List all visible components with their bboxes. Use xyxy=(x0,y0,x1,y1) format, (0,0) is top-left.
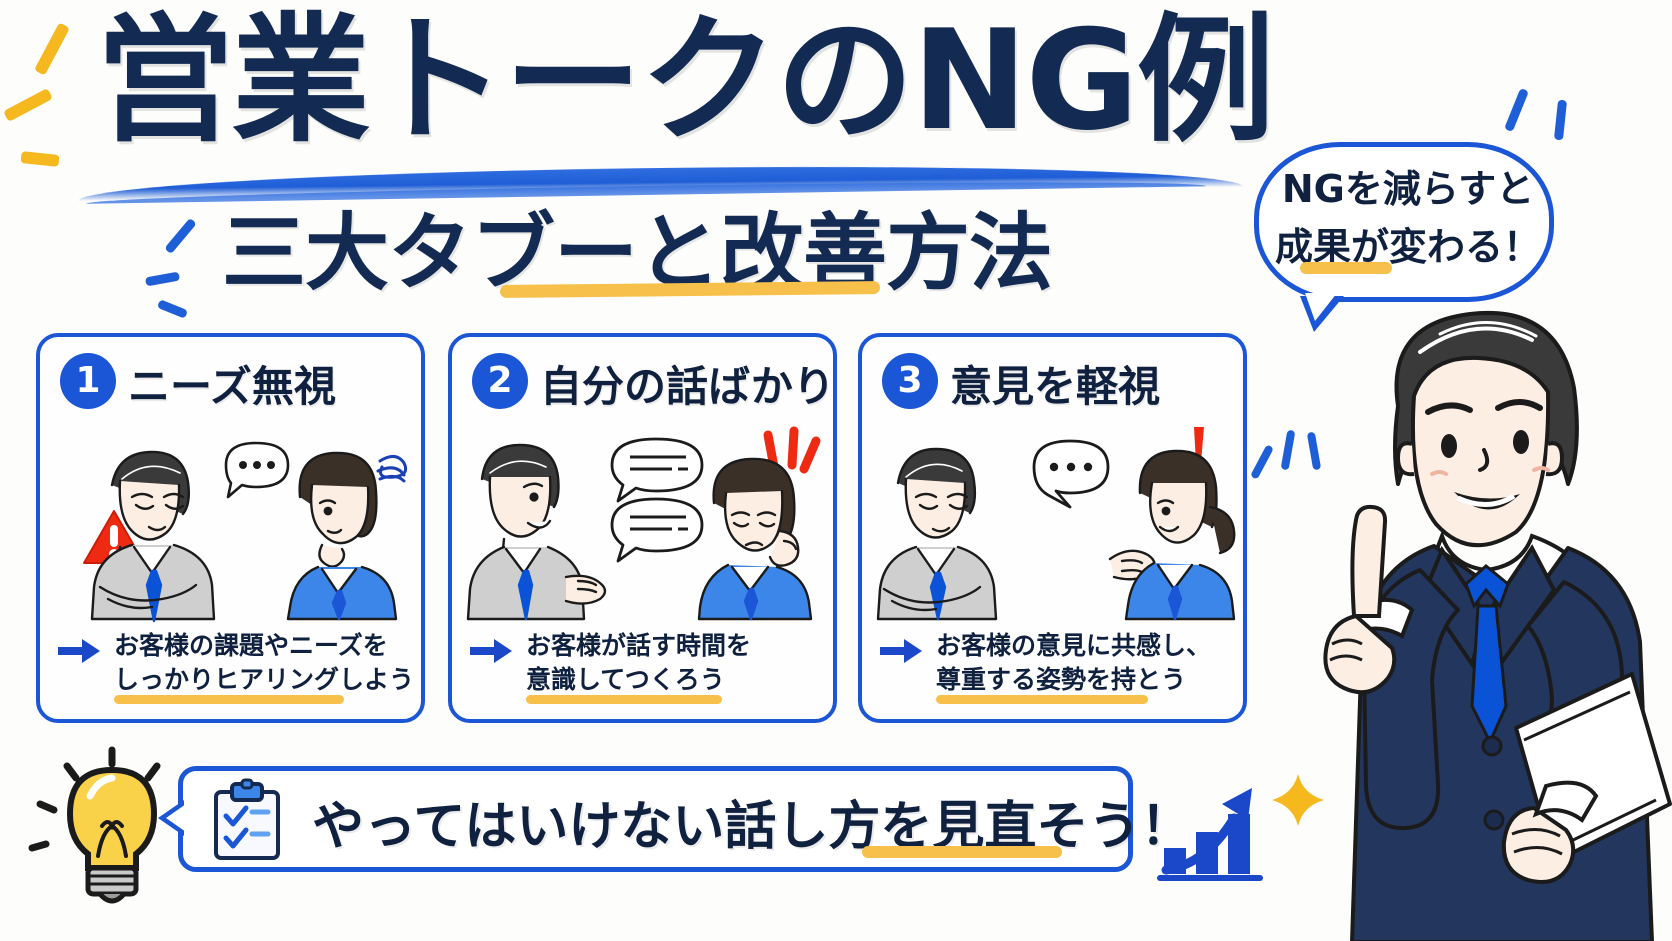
card-caption-line-1: お客様の意見に共感し、 xyxy=(936,629,1236,663)
salesman-figure xyxy=(878,449,996,619)
callout-text: NGを減らすと 成果が変わる！ xyxy=(1272,160,1544,276)
sparkle-stroke-icon xyxy=(1504,88,1529,132)
client-woman-bored-figure xyxy=(699,459,811,619)
card-caption-highlight xyxy=(526,695,722,704)
card-caption: お客様の意見に共感し、 尊重する姿勢を持とう xyxy=(936,629,1236,697)
taboo-card-1[interactable]: 1 ニーズ無視 xyxy=(36,333,425,723)
card-title: 意見を軽視 xyxy=(950,355,1160,411)
card-caption-line-1: お客様の課題やニーズを xyxy=(114,629,414,663)
double-speech-bubble-icon xyxy=(612,439,702,561)
sparkle-stroke-icon xyxy=(1250,444,1274,480)
taboo-card-2[interactable]: 2 自分の話ばかり xyxy=(448,333,837,723)
taboo-card-3[interactable]: 3 意見を軽視 xyxy=(858,333,1247,723)
footer-message-highlight xyxy=(862,846,1062,858)
clipboard-checklist-icon xyxy=(210,782,284,862)
card-title: 自分の話ばかり xyxy=(540,355,835,411)
title-block: 営業トークのNG例 xyxy=(96,6,1236,176)
sparkle-stroke-icon xyxy=(1554,100,1567,141)
sparkle-stroke-icon xyxy=(34,22,70,75)
card-number-badge: 1 xyxy=(60,353,116,409)
card-caption-line-2: 意識してつくろう xyxy=(526,663,826,697)
ellipsis-speech-bubble-icon xyxy=(226,443,288,497)
card-caption-highlight xyxy=(114,695,344,704)
sparkle-stroke-icon xyxy=(20,151,59,167)
card-number-badge: 2 xyxy=(472,353,528,409)
card-caption: お客様の課題やニーズを しっかりヒアリングしよう xyxy=(114,629,414,697)
growth-bar-chart-icon xyxy=(1156,752,1286,882)
card-caption-highlight xyxy=(936,695,1148,704)
salesman-talking-figure xyxy=(468,445,605,619)
card-3-illustration xyxy=(872,419,1240,619)
card-1-illustration xyxy=(50,419,418,619)
ellipsis-speech-bubble-icon xyxy=(1034,441,1108,507)
footer-banner-tail-fill xyxy=(166,804,186,832)
card-title: ニーズ無視 xyxy=(128,355,336,411)
card-caption: お客様が話す時間を 意識してつくろう xyxy=(526,629,826,697)
card-2-illustration xyxy=(462,419,830,619)
card-number-badge: 3 xyxy=(882,353,938,409)
page-title: 営業トークのNG例 xyxy=(96,6,1236,156)
sparkle-stroke-icon xyxy=(157,299,188,319)
card-caption-line-2: 尊重する姿勢を持とう xyxy=(936,663,1236,697)
confusion-swirl-icon xyxy=(378,456,406,481)
sparkle-stroke-icon xyxy=(3,88,53,122)
arrow-right-icon xyxy=(878,637,924,665)
sparkle-stroke-icon xyxy=(145,272,180,287)
arrow-right-icon xyxy=(468,637,514,665)
card-caption-line-2: しっかりヒアリングしよう xyxy=(114,663,414,697)
callout-line-1: NGを減らすと xyxy=(1272,160,1544,218)
presenter-illustration xyxy=(1302,300,1672,941)
client-woman-speaking-figure xyxy=(1110,451,1234,619)
card-caption-line-1: お客様が話す時間を xyxy=(526,629,826,663)
sparkle-stroke-icon xyxy=(164,218,197,254)
arrow-right-icon xyxy=(56,637,102,665)
infographic-canvas: 営業トークのNG例 三大タブーと改善方法 NGを減らすと 成果が変わる！ 1 ニ… xyxy=(0,0,1672,941)
callout-highlight xyxy=(1300,262,1392,274)
sparkle-stroke-icon xyxy=(1281,430,1296,471)
